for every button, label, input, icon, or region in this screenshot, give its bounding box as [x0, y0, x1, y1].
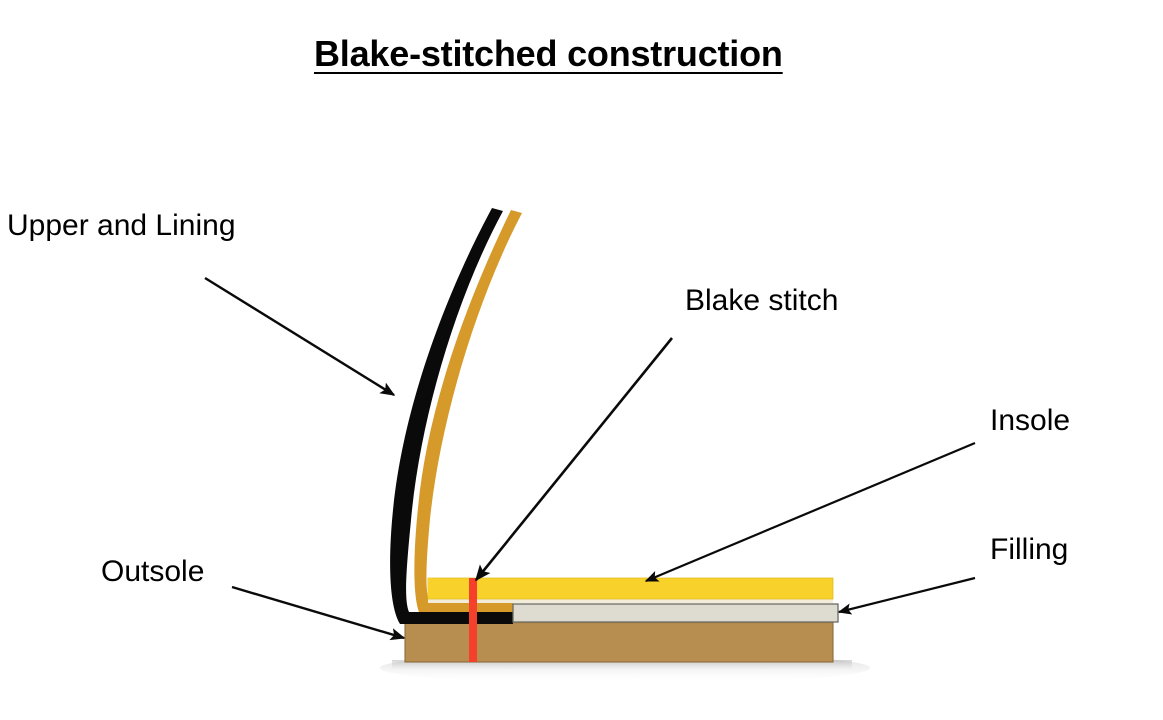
leader-line-upper-lining — [205, 278, 394, 395]
leader-line-blake-stitch — [476, 338, 672, 580]
label-blake-stitch: Blake stitch — [685, 286, 838, 316]
label-filling: Filling — [990, 535, 1068, 565]
filling-shape — [513, 604, 838, 622]
leader-line-insole — [646, 443, 975, 581]
page-title: Blake-stitched construction — [314, 36, 783, 72]
leader-line-outsole — [232, 587, 404, 638]
blake-stitch-thread — [469, 578, 477, 662]
diagram-canvas: Blake-stitched construction Upper and Li… — [0, 0, 1163, 720]
label-outsole: Outsole — [101, 557, 204, 587]
label-insole: Insole — [990, 406, 1070, 436]
label-upper-and-lining: Upper and Lining — [7, 211, 236, 241]
leader-line-filling — [839, 578, 975, 612]
insole-shape — [428, 578, 833, 599]
shoe-cross-section-illustration — [0, 0, 1163, 720]
